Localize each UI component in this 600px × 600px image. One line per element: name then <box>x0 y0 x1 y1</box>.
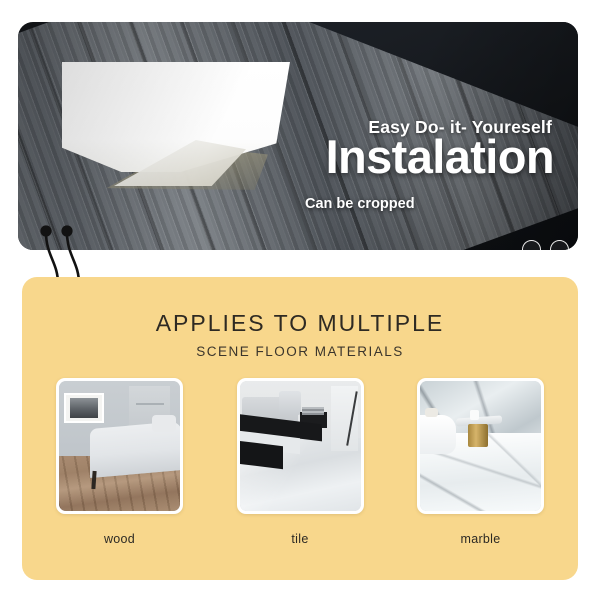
material-label-marble: marble <box>417 532 544 546</box>
material-item-marble[interactable]: marble <box>417 378 544 546</box>
marble-scene-brass-table-leg <box>468 424 487 447</box>
tile-scene-cushion <box>279 391 301 414</box>
material-thumbnail-list: wood <box>56 378 544 546</box>
material-label-tile: tile <box>237 532 364 546</box>
panel-heading: APPLIES TO MULTIPLE <box>22 310 578 337</box>
carousel-dots[interactable] <box>522 240 569 250</box>
material-image-marble <box>420 381 541 511</box>
carousel-dot-1-icon[interactable] <box>522 240 541 250</box>
material-image-wood <box>59 381 180 511</box>
material-image-tile <box>240 381 361 511</box>
tile-scene-books <box>302 407 324 415</box>
marble-scene-bathtub <box>420 415 456 454</box>
hero-headline-large: Instalation <box>326 132 554 183</box>
wood-scene-pillow <box>152 415 176 432</box>
carousel-dot-2-icon[interactable] <box>550 240 569 250</box>
material-thumbnail-frame-marble[interactable] <box>417 378 544 514</box>
panel-subheading: SCENE FLOOR MATERIALS <box>22 344 578 359</box>
material-item-wood[interactable]: wood <box>56 378 183 546</box>
material-label-wood: wood <box>56 532 183 546</box>
hero-subtext: Can be cropped <box>305 196 415 212</box>
pin-2-head-icon <box>61 225 72 236</box>
hero-banner-card: Easy Do- it- Youreself Instalation Can b… <box>18 22 578 250</box>
wood-scene-bed-leg <box>91 471 96 489</box>
marble-scene-bowl <box>425 408 438 417</box>
marble-scene-cup <box>470 410 480 420</box>
material-item-tile[interactable]: tile <box>237 378 364 546</box>
material-thumbnail-frame-wood[interactable] <box>56 378 183 514</box>
materials-panel: APPLIES TO MULTIPLE SCENE FLOOR MATERIAL… <box>22 277 578 580</box>
product-listing-image: Easy Do- it- Youreself Instalation Can b… <box>0 0 600 600</box>
wood-scene-window <box>64 393 104 423</box>
pin-1-head-icon <box>40 225 51 236</box>
material-thumbnail-frame-tile[interactable] <box>237 378 364 514</box>
